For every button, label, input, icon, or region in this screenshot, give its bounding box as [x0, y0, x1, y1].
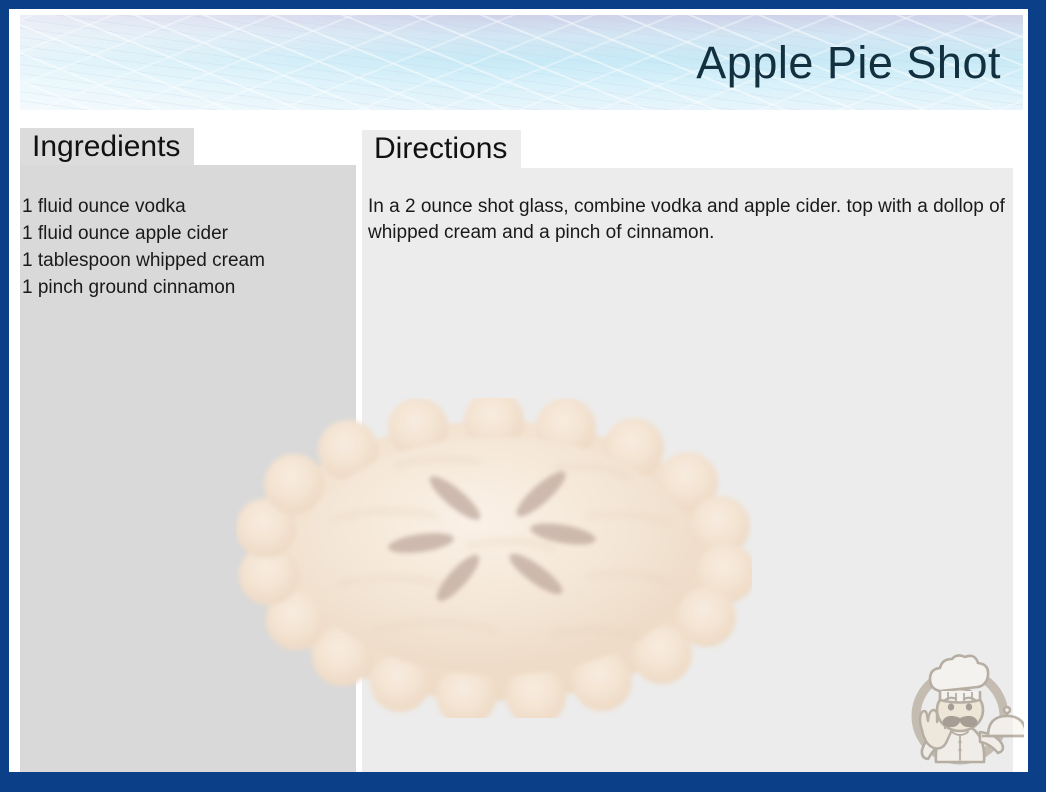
ingredients-panel: 1 fluid ounce vodka 1 fluid ounce apple … — [20, 165, 356, 772]
list-item: 1 pinch ground cinnamon — [22, 274, 350, 301]
directions-text: In a 2 ounce shot glass, combine vodka a… — [368, 194, 1008, 246]
section-heading-ingredients: Ingredients — [20, 128, 194, 168]
frame-border-right — [1028, 0, 1046, 792]
frame-border-top — [0, 0, 1046, 9]
list-item: 1 tablespoon whipped cream — [22, 247, 350, 274]
list-item: 1 fluid ounce apple cider — [22, 220, 350, 247]
title-banner: Apple Pie Shot — [20, 15, 1023, 110]
frame-border-bottom — [0, 772, 1046, 792]
ingredients-list: 1 fluid ounce vodka 1 fluid ounce apple … — [22, 193, 350, 301]
section-heading-directions: Directions — [362, 130, 521, 170]
chef-mascot-logo — [896, 644, 1024, 772]
recipe-card-page: Apple Pie Shot Ingredients 1 fluid ounce… — [0, 0, 1046, 792]
list-item: 1 fluid ounce vodka — [22, 193, 350, 220]
frame-border-left — [0, 0, 9, 792]
page-title: Apple Pie Shot — [696, 37, 1001, 89]
